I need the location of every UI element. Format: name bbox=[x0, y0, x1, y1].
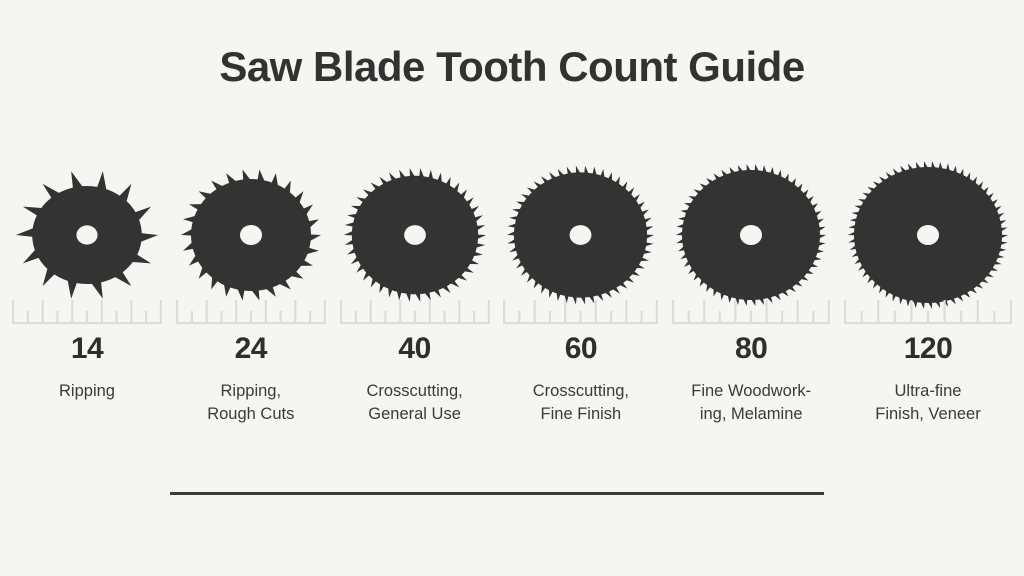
ruler-major-tick bbox=[534, 300, 536, 322]
ruler-minor-tick bbox=[145, 311, 147, 322]
blade-use-description: Ripping, Rough Cuts bbox=[176, 380, 326, 428]
blade-arbor-hole bbox=[917, 225, 939, 245]
blade-arbor-hole bbox=[240, 225, 262, 245]
ruler-major-tick bbox=[369, 300, 371, 322]
ruler-baseline bbox=[503, 322, 658, 324]
ruler-minor-tick bbox=[309, 311, 311, 322]
ruler-baseline bbox=[844, 322, 1012, 324]
ruler-icon bbox=[340, 296, 490, 328]
saw-blade-24-teeth bbox=[176, 155, 326, 315]
ruler-minor-tick bbox=[641, 311, 643, 322]
ruler-major-tick bbox=[12, 300, 14, 322]
ruler-major-tick bbox=[487, 300, 489, 322]
infographic-canvas: Saw Blade Tooth Count Guide 14Ripping24R… bbox=[0, 0, 1024, 576]
ruler-icon bbox=[176, 296, 326, 328]
ruler-major-tick bbox=[324, 300, 326, 322]
blade-label-60: 60Crosscutting, Fine Finish bbox=[503, 330, 658, 427]
ruler-minor-tick bbox=[549, 311, 551, 322]
blade-use-description: Ripping bbox=[12, 380, 162, 404]
blade-label-40: 40Crosscutting, General Use bbox=[340, 330, 490, 427]
blade-label-row: 14Ripping24Ripping, Rough Cuts40Crosscut… bbox=[12, 330, 1012, 427]
tooth-count-value: 60 bbox=[503, 330, 658, 368]
blade-arbor-hole bbox=[76, 225, 97, 244]
ruler-major-tick bbox=[943, 300, 945, 322]
saw-blade-60-teeth bbox=[503, 155, 658, 315]
ruler-minor-tick bbox=[960, 311, 962, 322]
ruler-major-tick bbox=[656, 300, 658, 322]
ruler-major-tick bbox=[130, 300, 132, 322]
ruler-baseline bbox=[672, 322, 830, 324]
blade-label-80: 80Fine Woodwork- ing, Melamine bbox=[672, 330, 830, 427]
ruler-major-tick bbox=[42, 300, 44, 322]
ruler-minor-tick bbox=[750, 311, 752, 322]
saw-blade-120-teeth bbox=[844, 155, 1012, 315]
ruler-minor-tick bbox=[56, 311, 58, 322]
footer-divider bbox=[170, 492, 824, 495]
saw-blade-icon bbox=[672, 160, 830, 310]
blade-label-24: 24Ripping, Rough Cuts bbox=[176, 330, 326, 427]
ruler-minor-tick bbox=[781, 311, 783, 322]
tooth-count-value: 80 bbox=[672, 330, 830, 368]
ruler-minor-tick bbox=[688, 311, 690, 322]
ruler-major-tick bbox=[1010, 300, 1012, 322]
ruler-minor-tick bbox=[993, 311, 995, 322]
ruler-icon bbox=[844, 296, 1012, 328]
ruler-baseline bbox=[176, 322, 326, 324]
ruler-minor-tick bbox=[413, 311, 415, 322]
ruler-minor-tick bbox=[861, 311, 863, 322]
blade-use-description: Crosscutting, Fine Finish bbox=[503, 380, 658, 428]
tooth-count-value: 120 bbox=[844, 330, 1012, 368]
ruler-minor-tick bbox=[519, 311, 521, 322]
blade-arbor-hole bbox=[570, 225, 592, 245]
saw-blade-icon bbox=[12, 163, 162, 307]
blade-use-description: Ultra-fine Finish, Veneer bbox=[844, 380, 1012, 428]
blade-use-description: Crosscutting, General Use bbox=[340, 380, 490, 428]
ruler-minor-tick bbox=[191, 311, 193, 322]
blade-label-120: 120Ultra-fine Finish, Veneer bbox=[844, 330, 1012, 427]
blade-arbor-hole bbox=[740, 225, 762, 245]
ruler-major-tick bbox=[735, 300, 737, 322]
ruler-major-tick bbox=[101, 300, 103, 322]
saw-blade-14-teeth bbox=[12, 155, 162, 315]
ruler-major-tick bbox=[71, 300, 73, 322]
ruler-minor-tick bbox=[27, 311, 29, 322]
ruler-major-tick bbox=[703, 300, 705, 322]
ruler-major-tick bbox=[340, 300, 342, 322]
ruler-major-tick bbox=[828, 300, 830, 322]
ruler-major-tick bbox=[294, 300, 296, 322]
ruler-major-tick bbox=[399, 300, 401, 322]
ruler-major-tick bbox=[205, 300, 207, 322]
saw-blade-icon bbox=[340, 163, 490, 307]
blade-label-14: 14Ripping bbox=[12, 330, 162, 403]
saw-blade-40-teeth bbox=[340, 155, 490, 315]
ruler-minor-tick bbox=[279, 311, 281, 322]
ruler-minor-tick bbox=[812, 311, 814, 322]
ruler-row bbox=[12, 296, 1012, 328]
ruler-major-tick bbox=[264, 300, 266, 322]
ruler-major-tick bbox=[235, 300, 237, 322]
ruler-major-tick bbox=[176, 300, 178, 322]
ruler-minor-tick bbox=[927, 311, 929, 322]
ruler-minor-tick bbox=[894, 311, 896, 322]
saw-blade-icon bbox=[177, 165, 325, 305]
ruler-baseline bbox=[12, 322, 162, 324]
ruler-icon bbox=[12, 296, 162, 328]
saw-blade-80-teeth bbox=[672, 155, 830, 315]
ruler-major-tick bbox=[565, 300, 567, 322]
ruler-minor-tick bbox=[610, 311, 612, 322]
ruler-minor-tick bbox=[384, 311, 386, 322]
ruler-major-tick bbox=[977, 300, 979, 322]
ruler-segment-6 bbox=[844, 296, 1012, 328]
page-title: Saw Blade Tooth Count Guide bbox=[0, 44, 1024, 90]
ruler-major-tick bbox=[766, 300, 768, 322]
ruler-segment-2 bbox=[176, 296, 326, 328]
tooth-count-value: 24 bbox=[176, 330, 326, 368]
ruler-segment-4 bbox=[503, 296, 658, 328]
ruler-minor-tick bbox=[580, 311, 582, 322]
blade-arbor-hole bbox=[404, 225, 426, 245]
tooth-count-value: 40 bbox=[340, 330, 490, 368]
ruler-segment-3 bbox=[340, 296, 490, 328]
ruler-minor-tick bbox=[115, 311, 117, 322]
ruler-minor-tick bbox=[220, 311, 222, 322]
ruler-major-tick bbox=[626, 300, 628, 322]
ruler-major-tick bbox=[672, 300, 674, 322]
ruler-minor-tick bbox=[443, 311, 445, 322]
ruler-major-tick bbox=[877, 300, 879, 322]
ruler-minor-tick bbox=[250, 311, 252, 322]
ruler-major-tick bbox=[160, 300, 162, 322]
ruler-minor-tick bbox=[86, 311, 88, 322]
ruler-segment-1 bbox=[12, 296, 162, 328]
ruler-major-tick bbox=[910, 300, 912, 322]
ruler-minor-tick bbox=[354, 311, 356, 322]
saw-blade-row bbox=[12, 155, 1012, 315]
ruler-minor-tick bbox=[473, 311, 475, 322]
ruler-major-tick bbox=[595, 300, 597, 322]
ruler-major-tick bbox=[844, 300, 846, 322]
saw-blade-icon bbox=[503, 161, 658, 309]
ruler-baseline bbox=[340, 322, 490, 324]
ruler-segment-5 bbox=[672, 296, 830, 328]
ruler-icon bbox=[672, 296, 830, 328]
ruler-major-tick bbox=[458, 300, 460, 322]
ruler-icon bbox=[503, 296, 658, 328]
tooth-count-value: 14 bbox=[12, 330, 162, 368]
saw-blade-icon bbox=[844, 157, 1012, 313]
ruler-major-tick bbox=[503, 300, 505, 322]
blade-use-description: Fine Woodwork- ing, Melamine bbox=[672, 380, 830, 428]
ruler-minor-tick bbox=[719, 311, 721, 322]
ruler-major-tick bbox=[428, 300, 430, 322]
ruler-major-tick bbox=[797, 300, 799, 322]
